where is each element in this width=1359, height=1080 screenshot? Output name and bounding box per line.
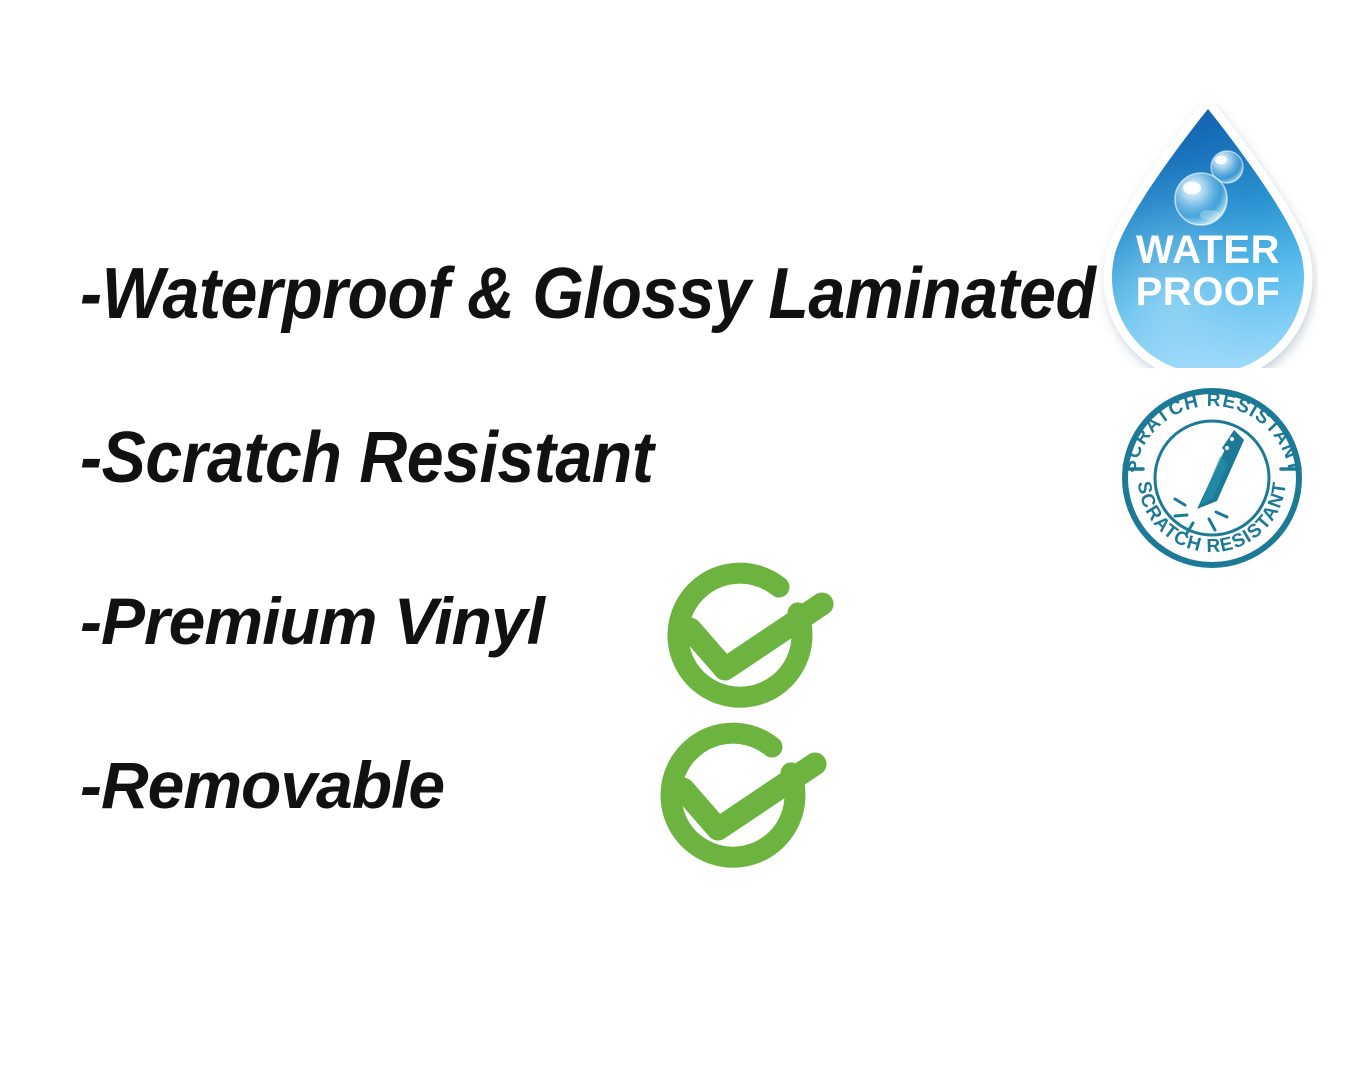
check-vinyl-icon: [637, 556, 847, 721]
stamp-top-text: SCRATCH RESISTANT: [1119, 390, 1305, 475]
waterproof-line1: WATER: [1136, 228, 1280, 272]
waterproof-badge: WATER PROOF: [1098, 103, 1318, 368]
feature-text-waterproof: -Waterproof & Glossy Laminated: [80, 258, 1096, 330]
check-removable-icon: [630, 716, 840, 881]
feature-graphic-canvas: -Waterproof & Glossy Laminated -Scratch …: [0, 0, 1359, 1080]
scratch-resistant-badge: SCRATCH RESISTANT SCRATCH RESISTANT: [1113, 383, 1311, 573]
feature-text-scratch-resistant: -Scratch Resistant: [80, 422, 653, 494]
waterproof-line2: PROOF: [1136, 270, 1281, 314]
feature-text-removable: -Removable: [80, 752, 444, 818]
knife-icon: [1175, 430, 1244, 533]
feature-text-premium-vinyl: -Premium Vinyl: [80, 588, 544, 654]
